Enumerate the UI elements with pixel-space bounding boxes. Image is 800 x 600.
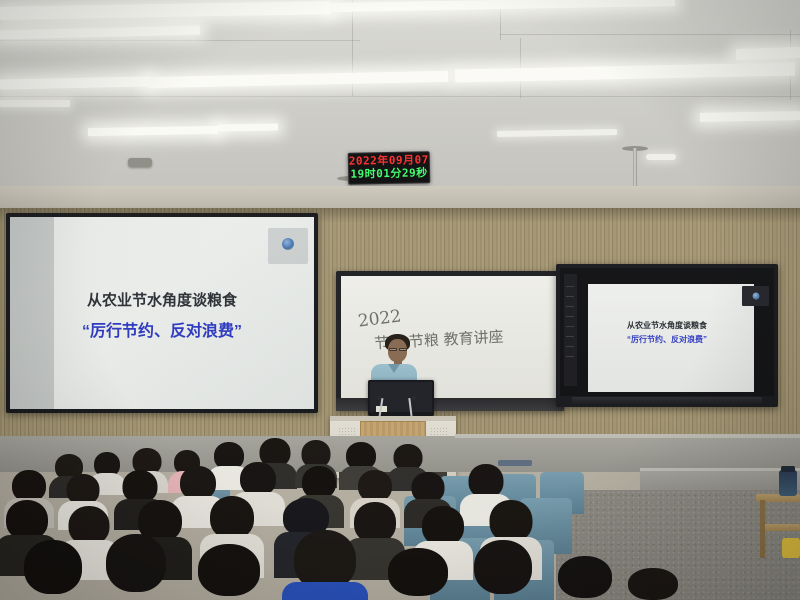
panel-slide-line1: 从农业节水角度谈粮食 — [556, 320, 778, 331]
slide-corner-logo — [268, 228, 308, 264]
ceiling-light — [455, 62, 795, 82]
audience-member — [292, 530, 358, 600]
thermos-lid — [781, 466, 795, 472]
audience-member — [472, 540, 534, 600]
ceiling-light — [497, 129, 617, 137]
ceiling-light — [700, 111, 800, 122]
slide-title-line1: 从农业节水角度谈粮食 — [6, 289, 318, 310]
ceiling-light — [330, 0, 675, 12]
audience-member — [196, 544, 262, 600]
yellow-item — [782, 538, 800, 558]
ceiling-smoke-detector — [128, 158, 152, 167]
stage-step — [640, 470, 800, 492]
slide-title-line2: “厉行节约、反对浪费” — [6, 317, 318, 341]
thermos-bottle — [779, 470, 797, 496]
ceiling-light — [88, 126, 218, 136]
ceiling-light — [218, 123, 278, 131]
audience-member — [386, 548, 450, 600]
audience-member — [22, 540, 84, 600]
led-date-text: 2022年09月07日 — [349, 152, 429, 167]
lecture-hall-photo: 2022年09月07日 19时01分29秒 从农业节水角度谈粮食 “厉行节约、反… — [0, 0, 800, 600]
ceiling-light — [646, 154, 676, 160]
panel-corner-logo — [742, 286, 769, 306]
audience-member — [626, 568, 680, 600]
audience-member — [556, 556, 614, 600]
wall-upper-band — [0, 186, 800, 208]
ceiling-light — [0, 76, 150, 89]
led-time-text: 19时01分29秒 — [349, 165, 429, 180]
ceiling-light — [148, 71, 448, 88]
led-clock-banner: 2022年09月07日 19时01分29秒 — [348, 151, 431, 185]
ceiling-light — [736, 47, 800, 60]
ceiling-light — [0, 1, 330, 20]
ceiling-light — [0, 100, 70, 107]
panel-slide-line2: “厉行节约、反对浪费” — [556, 334, 778, 345]
audience-member — [104, 534, 168, 600]
ceiling-light — [0, 26, 200, 40]
side-desk-shelf — [762, 524, 800, 531]
interactive-flat-panel[interactable]: 从农业节水角度谈粮食 “厉行节约、反对浪费” — [556, 264, 778, 407]
projection-screen: 从农业节水角度谈粮食 “厉行节约、反对浪费” — [6, 213, 318, 413]
